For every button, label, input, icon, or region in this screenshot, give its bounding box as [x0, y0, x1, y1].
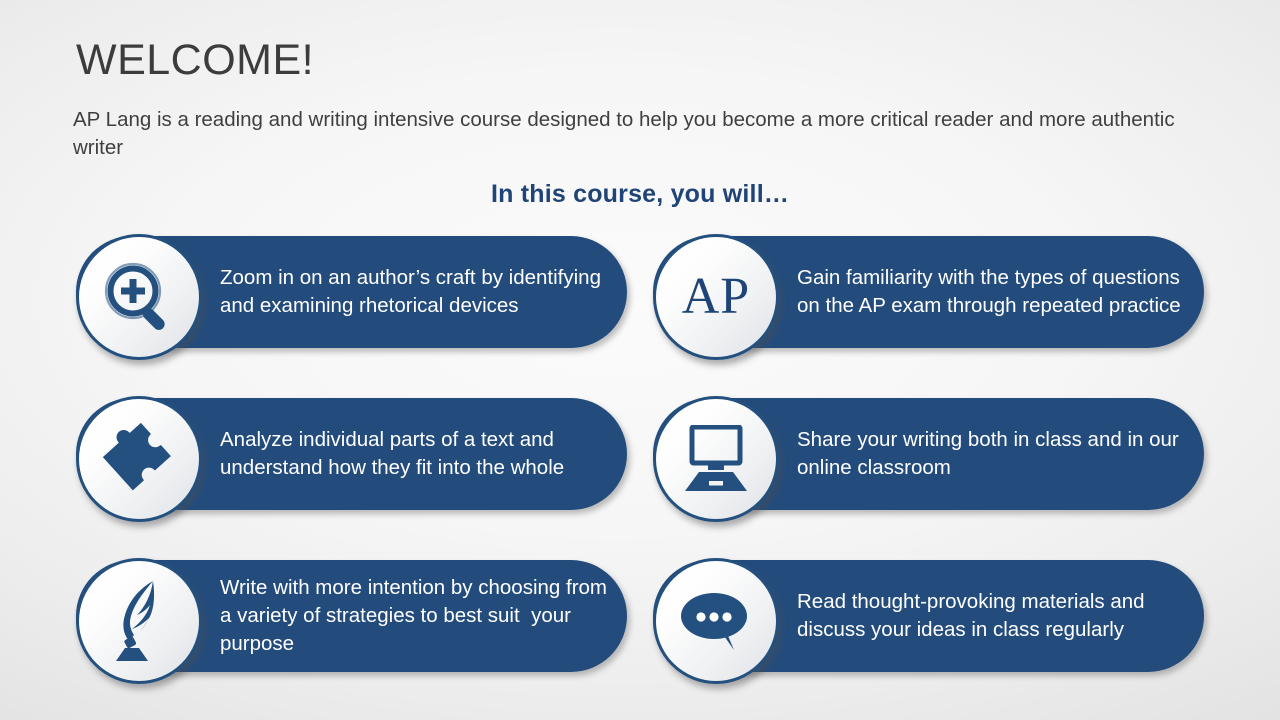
feature-item-write-intention[interactable]: Write with more intention by choosing fr… — [76, 558, 627, 676]
feature-item-read-discuss[interactable]: Read thought-provoking materials and dis… — [653, 558, 1204, 676]
ap-logo-icon: AP — [653, 234, 779, 360]
feature-text: Write with more intention by choosing fr… — [220, 560, 610, 672]
feature-item-share-writing[interactable]: Share your writing both in class and in … — [653, 396, 1204, 514]
magnifier-plus-icon — [76, 234, 202, 360]
section-heading: In this course, you will… — [0, 180, 1280, 209]
feature-item-analyze-parts[interactable]: Analyze individual parts of a text and u… — [76, 396, 627, 514]
slide-subtitle: AP Lang is a reading and writing intensi… — [73, 106, 1208, 163]
speech-bubble-dots-icon — [653, 558, 779, 684]
feature-item-ap-exam[interactable]: Gain familiarity with the types of quest… — [653, 234, 1204, 352]
page-title: WELCOME! — [76, 38, 314, 83]
quill-inkwell-icon — [76, 558, 202, 684]
features-grid: Zoom in on an author’s craft by identify… — [76, 234, 1204, 676]
feature-item-zoom-in[interactable]: Zoom in on an author’s craft by identify… — [76, 234, 627, 352]
feature-text: Read thought-provoking materials and dis… — [797, 560, 1187, 672]
ap-logo-label: AP — [682, 271, 750, 323]
laptop-icon — [653, 396, 779, 522]
feature-text: Analyze individual parts of a text and u… — [220, 398, 610, 510]
feature-text: Zoom in on an author’s craft by identify… — [220, 236, 610, 348]
puzzle-piece-icon — [76, 396, 202, 522]
feature-text: Share your writing both in class and in … — [797, 398, 1187, 510]
feature-text: Gain familiarity with the types of quest… — [797, 236, 1187, 348]
